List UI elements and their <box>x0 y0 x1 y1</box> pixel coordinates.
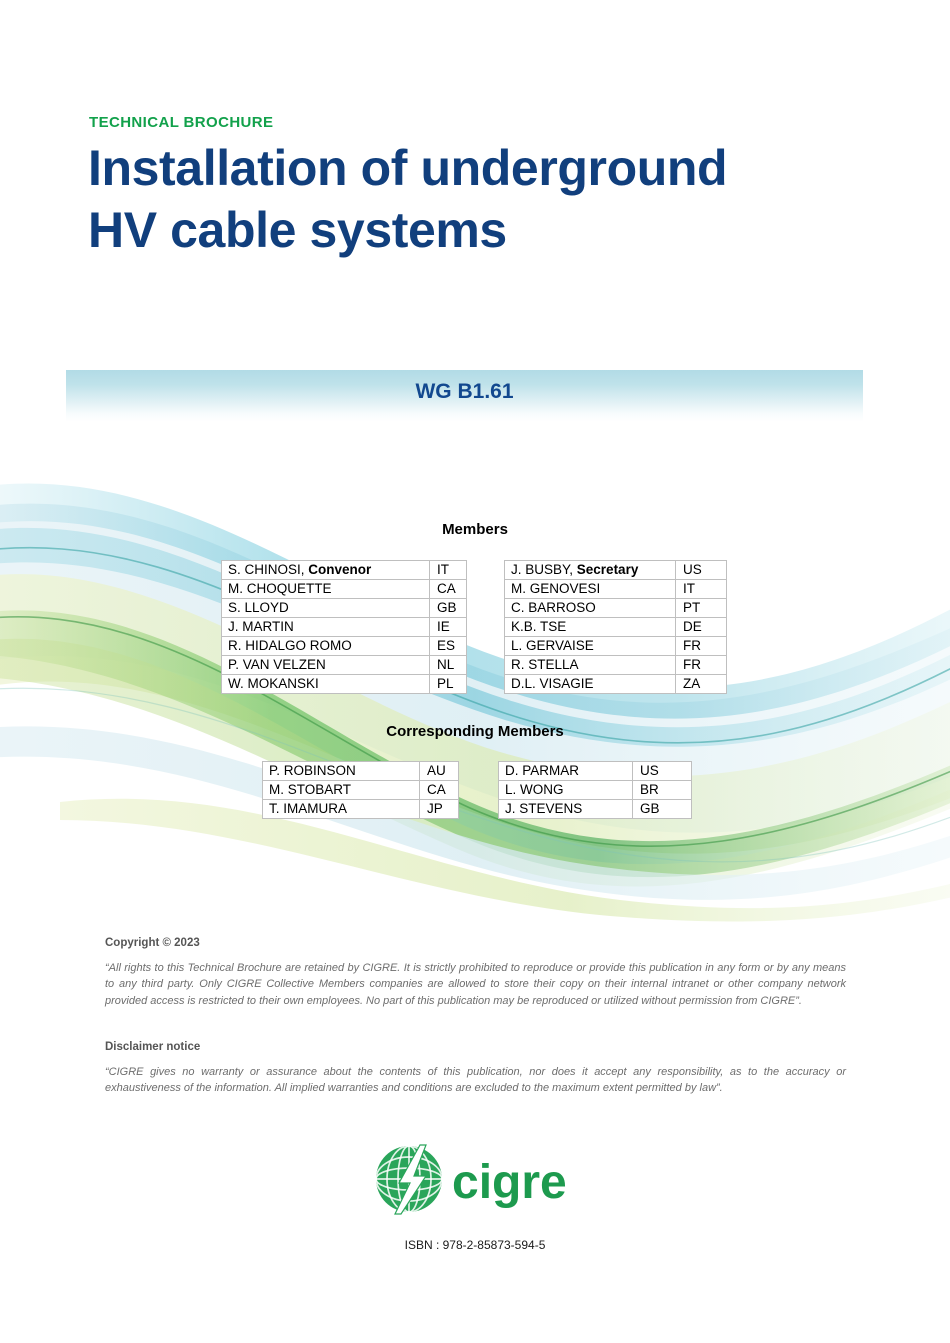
table-row: W. MOKANSKIPL <box>222 675 467 694</box>
members-section-title: Members <box>0 521 950 538</box>
corresponding-members-table-left-body: P. ROBINSONAUM. STOBARTCAT. IMAMURAJP <box>263 762 459 819</box>
member-name-cell: L. WONG <box>499 781 633 800</box>
table-row: D. PARMARUS <box>499 762 692 781</box>
table-row: L. WONGBR <box>499 781 692 800</box>
member-country-cell: IT <box>430 561 467 580</box>
cigre-logo: cigre <box>374 1143 577 1216</box>
cigre-wordmark: cigre <box>452 1156 567 1209</box>
member-country-cell: BR <box>633 781 692 800</box>
member-country-cell: GB <box>633 800 692 819</box>
table-row: S. LLOYDGB <box>222 599 467 618</box>
member-name-cell: R. HIDALGO ROMO <box>222 637 430 656</box>
member-name-cell: R. STELLA <box>505 656 676 675</box>
member-name-cell: S. CHINOSI, Convenor <box>222 561 430 580</box>
member-country-cell: ES <box>430 637 467 656</box>
copyright-heading: Copyright © 2023 <box>105 937 846 949</box>
table-row: M. CHOQUETTECA <box>222 580 467 599</box>
decorative-wave-graphic <box>0 430 950 930</box>
members-table-left: S. CHINOSI, ConvenorITM. CHOQUETTECAS. L… <box>221 560 467 694</box>
disclaimer-heading: Disclaimer notice <box>105 1041 846 1053</box>
member-country-cell: US <box>633 762 692 781</box>
member-country-cell: ZA <box>676 675 727 694</box>
members-table-left-body: S. CHINOSI, ConvenorITM. CHOQUETTECAS. L… <box>222 561 467 694</box>
members-table-right: J. BUSBY, SecretaryUSM. GENOVESIITC. BAR… <box>504 560 727 694</box>
document-cover-page: TECHNICAL BROCHURE Installation of under… <box>0 0 950 1343</box>
member-role: Convenor <box>308 562 371 577</box>
member-name-cell: T. IMAMURA <box>263 800 420 819</box>
member-country-cell: NL <box>430 656 467 675</box>
members-table-right-body: J. BUSBY, SecretaryUSM. GENOVESIITC. BAR… <box>505 561 727 694</box>
member-name-cell: P. ROBINSON <box>263 762 420 781</box>
member-country-cell: JP <box>420 800 459 819</box>
globe-icon <box>376 1145 442 1214</box>
member-name-cell: K.B. TSE <box>505 618 676 637</box>
table-row: M. STOBARTCA <box>263 781 459 800</box>
table-row: K.B. TSEDE <box>505 618 727 637</box>
member-name-cell: M. STOBART <box>263 781 420 800</box>
page-kicker: TECHNICAL BROCHURE <box>89 114 273 131</box>
table-row: D.L. VISAGIEZA <box>505 675 727 694</box>
table-row: R. STELLAFR <box>505 656 727 675</box>
member-country-cell: FR <box>676 637 727 656</box>
member-role: Secretary <box>577 562 639 577</box>
member-name-cell: J. BUSBY, Secretary <box>505 561 676 580</box>
member-country-cell: CA <box>430 580 467 599</box>
member-country-cell: IT <box>676 580 727 599</box>
table-row: M. GENOVESIIT <box>505 580 727 599</box>
corresponding-members-table-right: D. PARMARUSL. WONGBRJ. STEVENSGB <box>498 761 692 819</box>
corresponding-members-table-right-body: D. PARMARUSL. WONGBRJ. STEVENSGB <box>499 762 692 819</box>
table-row: S. CHINOSI, ConvenorIT <box>222 561 467 580</box>
member-name-cell: D.L. VISAGIE <box>505 675 676 694</box>
corresponding-members-table-left: P. ROBINSONAUM. STOBARTCAT. IMAMURAJP <box>262 761 459 819</box>
disclaimer-body: “CIGRE gives no warranty or assurance ab… <box>105 1064 846 1097</box>
page-title-line-1: Installation of underground <box>88 137 848 199</box>
working-group-label: WG B1.61 <box>66 380 863 404</box>
corresponding-members-section-title: Corresponding Members <box>0 723 950 740</box>
table-row: J. MARTINIE <box>222 618 467 637</box>
member-country-cell: DE <box>676 618 727 637</box>
table-row: C. BARROSOPT <box>505 599 727 618</box>
member-country-cell: PT <box>676 599 727 618</box>
table-row: P. VAN VELZENNL <box>222 656 467 675</box>
member-country-cell: US <box>676 561 727 580</box>
table-row: P. ROBINSONAU <box>263 762 459 781</box>
table-row: L. GERVAISEFR <box>505 637 727 656</box>
member-name-cell: J. STEVENS <box>499 800 633 819</box>
member-name-cell: M. GENOVESI <box>505 580 676 599</box>
working-group-banner: WG B1.61 <box>66 370 863 422</box>
member-country-cell: AU <box>420 762 459 781</box>
member-name-cell: C. BARROSO <box>505 599 676 618</box>
member-country-cell: PL <box>430 675 467 694</box>
member-country-cell: GB <box>430 599 467 618</box>
member-country-cell: CA <box>420 781 459 800</box>
member-country-cell: FR <box>676 656 727 675</box>
member-name-cell: J. MARTIN <box>222 618 430 637</box>
member-country-cell: IE <box>430 618 467 637</box>
member-name-cell: M. CHOQUETTE <box>222 580 430 599</box>
page-title-line-2: HV cable systems <box>88 199 848 261</box>
table-row: R. HIDALGO ROMOES <box>222 637 467 656</box>
legal-notices: Copyright © 2023 “All rights to this Tec… <box>105 937 846 1096</box>
table-row: J. BUSBY, SecretaryUS <box>505 561 727 580</box>
member-name-cell: W. MOKANSKI <box>222 675 430 694</box>
member-name-cell: P. VAN VELZEN <box>222 656 430 675</box>
table-row: T. IMAMURAJP <box>263 800 459 819</box>
member-name-cell: L. GERVAISE <box>505 637 676 656</box>
table-row: J. STEVENSGB <box>499 800 692 819</box>
isbn-text: ISBN : 978-2-85873-594-5 <box>0 1238 950 1252</box>
member-name-cell: S. LLOYD <box>222 599 430 618</box>
page-title: Installation of underground HV cable sys… <box>88 137 848 261</box>
member-name-cell: D. PARMAR <box>499 762 633 781</box>
copyright-body: “All rights to this Technical Brochure a… <box>105 960 846 1009</box>
